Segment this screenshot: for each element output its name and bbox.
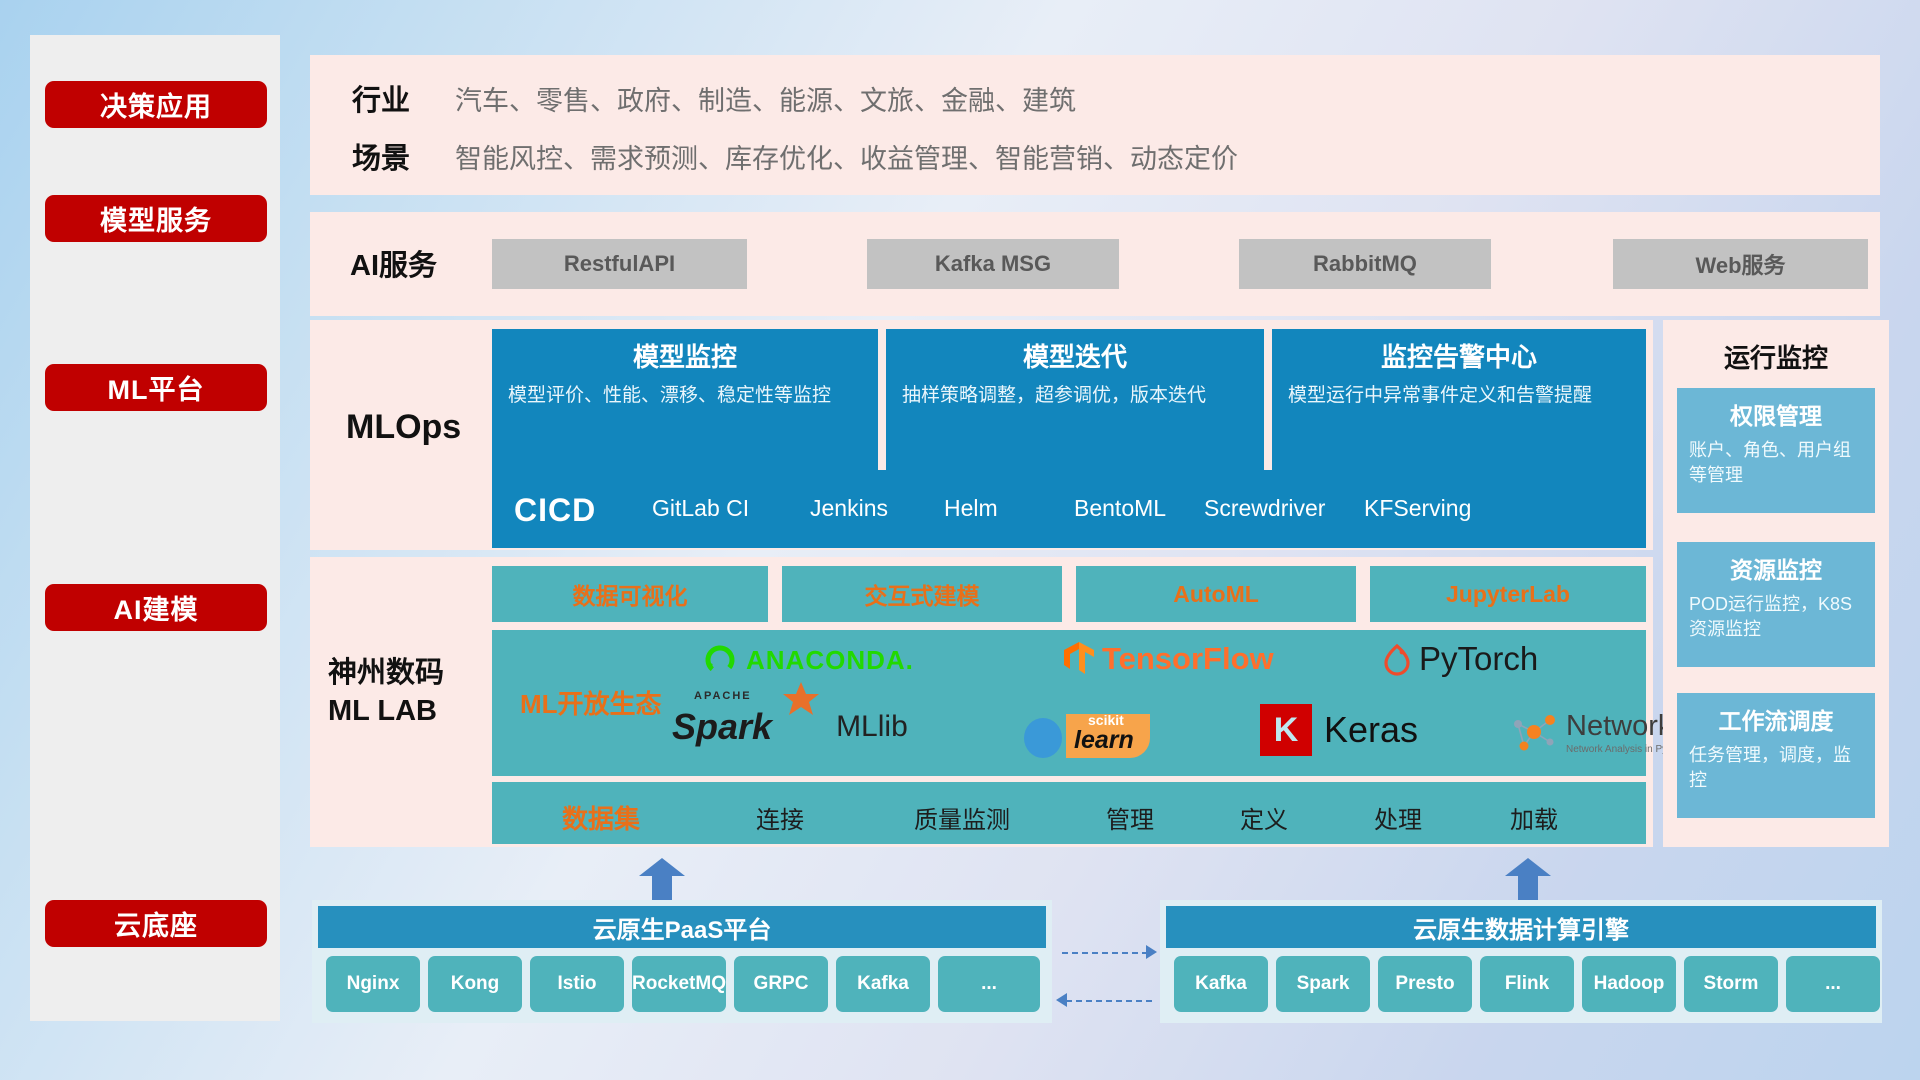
left-layer-rail: 决策应用 模型服务 ML平台 AI建模 云底座 — [30, 35, 280, 1021]
pytorch-wordmark: PyTorch — [1419, 640, 1538, 678]
application-band: 行业 汽车、零售、政府、制造、能源、文旅、金融、建筑 场景 智能风控、需求预测、… — [310, 55, 1880, 195]
spark-apache-text: APACHE — [694, 690, 752, 702]
pytorch-icon — [1382, 641, 1412, 677]
paas-title: 云原生PaaS平台 — [318, 906, 1046, 948]
runtime-monitor-title: 运行监控 — [1663, 338, 1889, 375]
architecture-diagram: 决策应用 模型服务 ML平台 AI建模 云底座 行业 汽车、零售、政府、制造、能… — [0, 0, 1920, 1080]
modeling-tab-data-visualization[interactable]: 数据可视化 — [492, 566, 768, 622]
card-desc: 抽样策略调整，超参调优，版本迭代 — [902, 383, 1248, 409]
monitor-card-resource[interactable]: 资源监控 POD运行监控，K8S资源监控 — [1677, 542, 1875, 667]
card-title: 工作流调度 — [1689, 702, 1863, 736]
tensorflow-logo: TensorFlow — [1062, 640, 1274, 678]
modeling-tab-jupyterlab[interactable]: JupyterLab — [1370, 566, 1646, 622]
engine-chip-storm[interactable]: Storm — [1684, 956, 1778, 1012]
paas-chip-rocketmq[interactable]: RocketMQ — [632, 956, 726, 1012]
tensorflow-wordmark: TensorFlow — [1102, 641, 1274, 677]
card-desc: 模型评价、性能、漂移、稳定性等监控 — [508, 383, 862, 409]
ai-service-chip-web-service[interactable]: Web服务 — [1613, 239, 1868, 289]
modeling-tab-automl[interactable]: AutoML — [1076, 566, 1356, 622]
keras-logo: K Keras — [1260, 704, 1418, 756]
mlops-card-alert-center[interactable]: 监控告警中心 模型运行中异常事件定义和告警提醒 — [1272, 329, 1646, 485]
paas-chip-kafka[interactable]: Kafka — [836, 956, 930, 1012]
paas-chip-nginx[interactable]: Nginx — [326, 956, 420, 1012]
mlops-card-model-iteration[interactable]: 模型迭代 抽样策略调整，超参调优，版本迭代 — [886, 329, 1264, 485]
cicd-bar: CICD GitLab CI Jenkins Helm BentoML Scre… — [492, 470, 1646, 548]
keras-mark-icon: K — [1260, 704, 1312, 756]
card-title: 模型迭代 — [902, 341, 1248, 374]
monitor-card-permission[interactable]: 权限管理 账户、角色、用户组等管理 — [1677, 388, 1875, 513]
arrow-up-data-engine — [1505, 858, 1551, 902]
dataset-item-quality[interactable]: 质量监测 — [914, 800, 1010, 835]
scenario-text: 智能风控、需求预测、库存优化、收益管理、智能营销、动态定价 — [455, 137, 1238, 176]
paas-chip-more[interactable]: ... — [938, 956, 1040, 1012]
modeling-tab-interactive-modeling[interactable]: 交互式建模 — [782, 566, 1062, 622]
ai-service-chip-kafka-msg[interactable]: Kafka MSG — [867, 239, 1119, 289]
industry-label: 行业 — [352, 77, 410, 119]
cicd-item-screwdriver[interactable]: Screwdriver — [1204, 494, 1316, 523]
ai-service-chip-restfulapi[interactable]: RestfulAPI — [492, 239, 747, 289]
card-desc: 账户、角色、用户组等管理 — [1689, 438, 1863, 488]
ml-lab-label-line1: 神州数码 — [328, 655, 444, 693]
keras-mark-letter: K — [1274, 711, 1299, 750]
ml-lab-label: 神州数码 ML LAB — [328, 655, 444, 730]
card-desc: 模型运行中异常事件定义和告警提醒 — [1288, 383, 1630, 409]
ml-lab-label-line2: ML LAB — [328, 693, 444, 731]
card-title: 监控告警中心 — [1288, 341, 1630, 374]
cicd-label: CICD — [514, 492, 596, 529]
cicd-item-gitlab-ci[interactable]: GitLab CI — [652, 494, 764, 523]
mlops-label: MLOps — [346, 402, 461, 452]
industry-text: 汽车、零售、政府、制造、能源、文旅、金融、建筑 — [455, 79, 1076, 118]
cicd-item-bentoml[interactable]: BentoML — [1074, 494, 1186, 523]
dataset-item-manage[interactable]: 管理 — [1106, 800, 1154, 835]
engine-chip-hadoop[interactable]: Hadoop — [1582, 956, 1676, 1012]
dataset-label: 数据集 — [562, 799, 640, 836]
card-desc: 任务管理，调度，监控 — [1689, 743, 1863, 793]
engine-chip-kafka[interactable]: Kafka — [1174, 956, 1268, 1012]
anaconda-wordmark: ANACONDA. — [746, 645, 914, 676]
cicd-item-jenkins[interactable]: Jenkins — [810, 494, 922, 523]
rail-item-model-service[interactable]: 模型服务 — [45, 195, 267, 242]
spark-star-icon — [780, 680, 822, 720]
runtime-monitor-band: 运行监控 权限管理 账户、角色、用户组等管理 资源监控 POD运行监控，K8S资… — [1663, 320, 1889, 847]
card-desc: POD运行监控，K8S资源监控 — [1689, 592, 1863, 642]
dataset-item-process[interactable]: 处理 — [1374, 800, 1422, 835]
card-title: 资源监控 — [1689, 551, 1863, 585]
scikit-learn-logo: scikit learn — [1020, 710, 1156, 763]
card-title: 模型监控 — [508, 341, 862, 374]
connector-dash-left — [1066, 1000, 1152, 1002]
dataset-item-connect[interactable]: 连接 — [756, 800, 804, 835]
cicd-item-kfserving[interactable]: KFServing — [1364, 494, 1476, 523]
card-title: 权限管理 — [1689, 397, 1863, 431]
dataset-item-define[interactable]: 定义 — [1240, 800, 1288, 835]
tensorflow-icon — [1062, 640, 1096, 678]
ml-open-ecosystem-label: ML开放生态 — [520, 684, 662, 721]
arrow-up-paas — [639, 858, 685, 902]
engine-chip-spark[interactable]: Spark — [1276, 956, 1370, 1012]
connector-dash-right — [1062, 952, 1148, 954]
dataset-item-load[interactable]: 加载 — [1510, 800, 1558, 835]
engine-chip-presto[interactable]: Presto — [1378, 956, 1472, 1012]
ml-open-ecosystem-panel: ML开放生态 ANACONDA. TensorFlow — [492, 630, 1646, 776]
mlops-card-model-monitoring[interactable]: 模型监控 模型评价、性能、漂移、稳定性等监控 — [492, 329, 878, 485]
learn-text: learn — [1074, 726, 1134, 755]
rail-item-ml-platform[interactable]: ML平台 — [45, 364, 267, 411]
anaconda-icon — [702, 642, 738, 678]
networkx-graph-icon — [1508, 710, 1560, 756]
spark-mllib-logo: APACHE Spark MLlib — [672, 706, 908, 748]
spark-wordmark: Spark — [672, 706, 772, 747]
anaconda-logo: ANACONDA. — [702, 642, 914, 678]
rail-item-decision-app[interactable]: 决策应用 — [45, 81, 267, 128]
ai-service-label: AI服务 — [350, 238, 437, 288]
engine-chip-more[interactable]: ... — [1786, 956, 1880, 1012]
data-engine-title: 云原生数据计算引擎 — [1166, 906, 1876, 948]
dataset-bar: 数据集 连接 质量监测 管理 定义 处理 加载 — [492, 782, 1646, 844]
rail-item-ai-modeling[interactable]: AI建模 — [45, 584, 267, 631]
scenario-label: 场景 — [352, 135, 410, 177]
pytorch-logo: PyTorch — [1382, 640, 1538, 678]
ai-service-chip-rabbitmq[interactable]: RabbitMQ — [1239, 239, 1491, 289]
engine-chip-flink[interactable]: Flink — [1480, 956, 1574, 1012]
cicd-item-helm[interactable]: Helm — [944, 494, 1056, 523]
paas-chip-istio[interactable]: Istio — [530, 956, 624, 1012]
paas-chip-grpc[interactable]: GRPC — [734, 956, 828, 1012]
paas-chip-kong[interactable]: Kong — [428, 956, 522, 1012]
monitor-card-workflow[interactable]: 工作流调度 任务管理，调度，监控 — [1677, 693, 1875, 818]
rail-item-cloud-base[interactable]: 云底座 — [45, 900, 267, 947]
keras-wordmark: Keras — [1324, 709, 1418, 751]
connector-arrowhead-left — [1056, 993, 1067, 1007]
connector-arrowhead-right — [1146, 945, 1157, 959]
mllib-wordmark: MLlib — [836, 710, 908, 744]
